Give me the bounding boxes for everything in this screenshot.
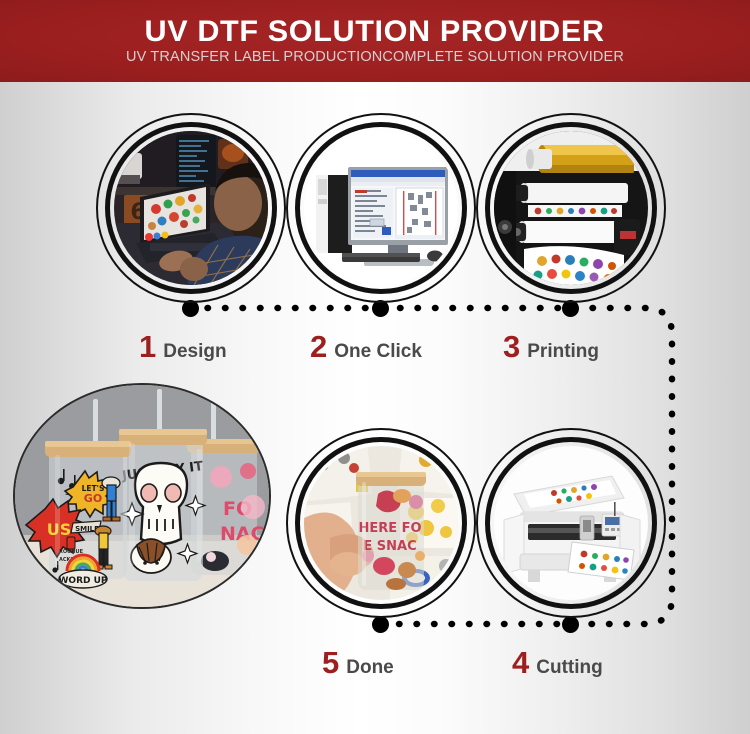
step-number: 2	[310, 331, 327, 362]
page-title: UV DTF SOLUTION PROVIDER	[145, 17, 605, 47]
uv-printing-machine-photo	[494, 131, 648, 285]
step-title: Done	[346, 658, 394, 677]
flow-node-dot-5	[372, 616, 389, 633]
laptop-designer-photo: 6	[114, 131, 268, 285]
step-label-one-click: 2 One Click	[310, 331, 422, 362]
finished-glass-cups-photo[interactable]: FO NAC JUST DIY IT	[13, 383, 271, 609]
step-number: 1	[139, 331, 156, 362]
hand-holding-cup-photo: HERE FO E SNAC	[304, 446, 458, 600]
step-label-done: 5 Done	[322, 647, 394, 678]
step-label-cutting: 4 Cutting	[512, 647, 603, 678]
flow-node-dot-4	[562, 616, 579, 633]
step-number: 4	[512, 647, 529, 678]
step-circle-design[interactable]: 6	[96, 113, 286, 303]
step-circle-done[interactable]: HERE FO E SNAC	[286, 428, 476, 618]
header-banner: UV DTF SOLUTION PROVIDER UV TRANSFER LAB…	[0, 0, 750, 82]
svg-text:WORD UP: WORD UP	[58, 576, 107, 586]
step-circle-one-click[interactable]	[286, 113, 476, 303]
step-title: Cutting	[536, 658, 602, 677]
step-number: 5	[322, 647, 339, 678]
step-title: Printing	[527, 342, 599, 361]
step-label-design: 1 Design	[139, 331, 227, 362]
cutting-plotter-photo	[494, 446, 648, 600]
step-circle-cutting[interactable]	[476, 428, 666, 618]
page-subtitle: UV TRANSFER LABEL PRODUCTIONCOMPLETE SOL…	[126, 50, 624, 65]
step-title: One Click	[334, 342, 422, 361]
infographic-page: UV DTF SOLUTION PROVIDER UV TRANSFER LAB…	[0, 0, 750, 734]
step-label-printing: 3 Printing	[503, 331, 599, 362]
step-title: Design	[163, 342, 226, 361]
desktop-computer-photo	[304, 131, 458, 285]
step-circle-printing[interactable]	[476, 113, 666, 303]
step-number: 3	[503, 331, 520, 362]
svg-text:HERE FO: HERE FO	[358, 521, 421, 536]
svg-text:GO: GO	[84, 492, 102, 505]
